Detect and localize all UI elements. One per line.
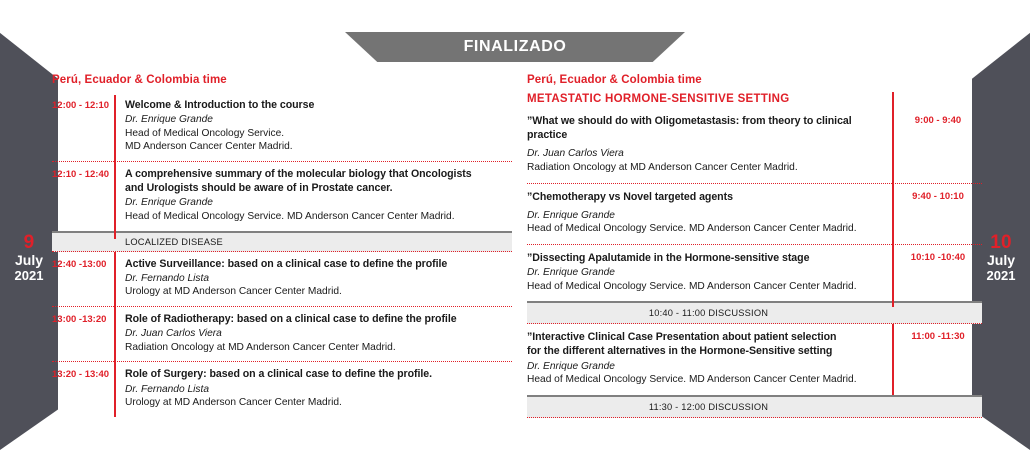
session-affiliation: Radiation Oncology at MD Anderson Cancer… (125, 341, 512, 355)
discussion-band-label: 11:30 - 12:00 DISCUSSION (527, 397, 982, 418)
session-title: Welcome & Introduction to the course (125, 98, 512, 112)
session-row[interactable]: 12:10 - 12:40 A comprehensive summary of… (52, 161, 512, 231)
session-body: ”Chemotherapy vs Novel targeted agents D… (527, 190, 894, 236)
section-band-label: LOCALIZED DISEASE (52, 233, 512, 252)
session-body: Active Surveillance: based on a clinical… (114, 257, 512, 299)
session-title: A comprehensive summary of the molecular… (125, 167, 512, 181)
session-title: ”Chemotherapy vs Novel targeted agents (527, 190, 882, 204)
discussion-band-1: 10:40 - 11:00 DISCUSSION (527, 301, 982, 324)
session-speaker: Dr. Juan Carlos Viera (527, 147, 882, 161)
date-block-left-text: 9 July 2021 (0, 232, 58, 283)
sessions-group-right-2: ”Interactive Clinical Case Presentation … (527, 324, 982, 395)
timezone-heading-left: Perú, Ecuador & Colombia time (52, 74, 512, 86)
session-affiliation: Head of Medical Oncology Service. MD And… (527, 280, 882, 294)
session-title-2: and Urologists should be aware of in Pro… (125, 181, 512, 195)
session-time: 12:10 - 12:40 (52, 167, 114, 180)
session-speaker: Dr. Enrique Grande (527, 360, 882, 374)
session-row[interactable]: 12:40 -13:00 Active Surveillance: based … (52, 252, 512, 306)
section-heading-metastatic: METASTATIC HORMONE-SENSITIVE SETTING (527, 93, 982, 105)
session-body: ”What we should do with Oligometastasis:… (527, 114, 894, 175)
session-affiliation: Head of Medical Oncology Service. MD And… (527, 222, 882, 236)
session-body: ”Interactive Clinical Case Presentation … (527, 330, 894, 387)
session-affiliation: Head of Medical Oncology Service. MD And… (125, 210, 512, 224)
session-row[interactable]: ”Interactive Clinical Case Presentation … (527, 324, 982, 395)
session-affiliation-2: MD Anderson Cancer Center Madrid. (125, 140, 512, 154)
session-affiliation: Head of Medical Oncology Service. (125, 127, 512, 141)
date-left-month: July (0, 253, 58, 269)
session-row[interactable]: 12:00 - 12:10 Welcome & Introduction to … (52, 93, 512, 161)
session-row[interactable]: ”Dissecting Apalutamide in the Hormone-s… (527, 244, 982, 301)
session-time: 12:40 -13:00 (52, 257, 114, 270)
agenda-poster: 9 July 2021 10 July 2021 FINALIZADO Perú… (0, 0, 1030, 450)
session-speaker: Dr. Juan Carlos Viera (125, 327, 512, 341)
session-body: A comprehensive summary of the molecular… (114, 167, 512, 224)
session-time: 10:10 -10:40 (894, 251, 982, 263)
session-speaker: Dr. Enrique Grande (527, 266, 882, 280)
sessions-group-right-1: ”What we should do with Oligometastasis:… (527, 114, 982, 301)
session-body: Role of Surgery: based on a clinical cas… (114, 367, 512, 409)
session-body: Role of Radiotherapy: based on a clinica… (114, 312, 512, 354)
session-speaker: Dr. Fernando Lista (125, 272, 512, 286)
session-time: 13:00 -13:20 (52, 312, 114, 325)
red-spine-band-right-1 (892, 301, 894, 307)
session-row[interactable]: 13:20 - 13:40 Role of Surgery: based on … (52, 361, 512, 416)
session-title: Role of Surgery: based on a clinical cas… (125, 367, 512, 381)
session-row[interactable]: ”What we should do with Oligometastasis:… (527, 114, 982, 183)
section-band-localized-disease: LOCALIZED DISEASE (52, 231, 512, 252)
session-speaker: Dr. Fernando Lista (125, 383, 512, 397)
session-body: Welcome & Introduction to the course Dr.… (114, 98, 512, 154)
sessions-group-left-2: 12:40 -13:00 Active Surveillance: based … (52, 252, 512, 417)
session-time: 9:40 - 10:10 (894, 190, 982, 202)
session-row[interactable]: 13:00 -13:20 Role of Radiotherapy: based… (52, 306, 512, 361)
session-time: 11:00 -11:30 (894, 330, 982, 342)
session-time: 12:00 - 12:10 (52, 98, 114, 111)
session-speaker: Dr. Enrique Grande (125, 196, 512, 210)
session-body: ”Dissecting Apalutamide in the Hormone-s… (527, 251, 894, 293)
date-block-left-shape (0, 0, 58, 450)
session-title: ”Interactive Clinical Case Presentation … (527, 330, 882, 344)
date-block-left: 9 July 2021 (0, 0, 58, 450)
date-left-year: 2021 (0, 269, 58, 284)
discussion-band-2: 11:30 - 12:00 DISCUSSION (527, 395, 982, 418)
session-title: ”What we should do with Oligometastasis:… (527, 114, 882, 142)
session-affiliation: Urology at MD Anderson Cancer Center Mad… (125, 285, 512, 299)
date-left-day: 9 (0, 232, 58, 253)
session-speaker: Dr. Enrique Grande (527, 209, 882, 223)
agenda-day-2: Perú, Ecuador & Colombia time METASTATIC… (527, 74, 982, 418)
agenda-day-1: Perú, Ecuador & Colombia time 12:00 - 12… (52, 74, 512, 417)
red-spine-band (114, 231, 116, 239)
session-title: Role of Radiotherapy: based on a clinica… (125, 312, 512, 326)
session-title-2: for the different alternatives in the Ho… (527, 344, 882, 358)
session-row[interactable]: ”Chemotherapy vs Novel targeted agents D… (527, 183, 982, 244)
session-title: ”Dissecting Apalutamide in the Hormone-s… (527, 251, 882, 265)
session-affiliation: Urology at MD Anderson Cancer Center Mad… (125, 396, 512, 410)
session-affiliation: Radiation Oncology at MD Anderson Cancer… (527, 161, 882, 175)
discussion-band-label: 10:40 - 11:00 DISCUSSION (527, 303, 982, 324)
session-title: Active Surveillance: based on a clinical… (125, 257, 512, 271)
session-time: 13:20 - 13:40 (52, 367, 114, 380)
timezone-heading-right: Perú, Ecuador & Colombia time (527, 74, 982, 86)
status-badge: FINALIZADO (345, 32, 685, 62)
session-speaker: Dr. Enrique Grande (125, 113, 512, 127)
session-affiliation: Head of Medical Oncology Service. MD And… (527, 373, 882, 387)
sessions-group-left-1: 12:00 - 12:10 Welcome & Introduction to … (52, 93, 512, 231)
session-time: 9:00 - 9:40 (894, 114, 982, 126)
